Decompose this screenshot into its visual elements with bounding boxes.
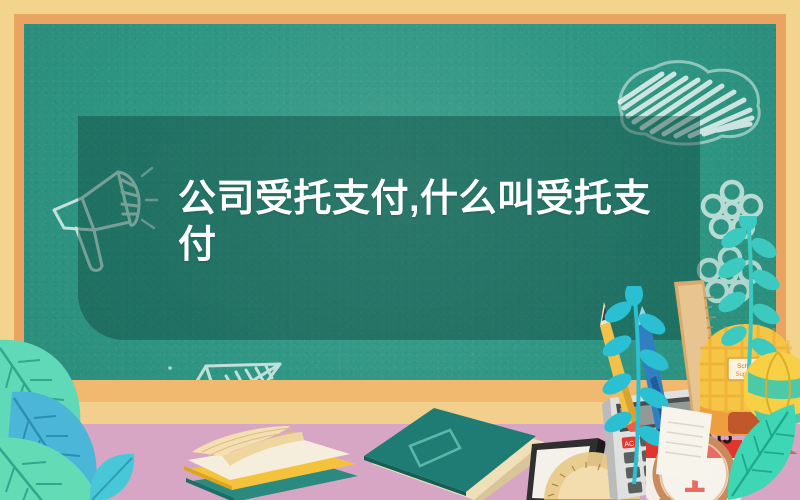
book-stack-left bbox=[182, 422, 368, 500]
page-title: 公司受托支付,什么叫受托支付 bbox=[178, 176, 658, 268]
leaf-small-blue bbox=[86, 452, 140, 500]
thumbnail-card: 公司受托支付,什么叫受托支付 bbox=[0, 0, 800, 500]
paper-sheet bbox=[654, 404, 718, 489]
leaf-cluster-right bbox=[726, 398, 800, 500]
